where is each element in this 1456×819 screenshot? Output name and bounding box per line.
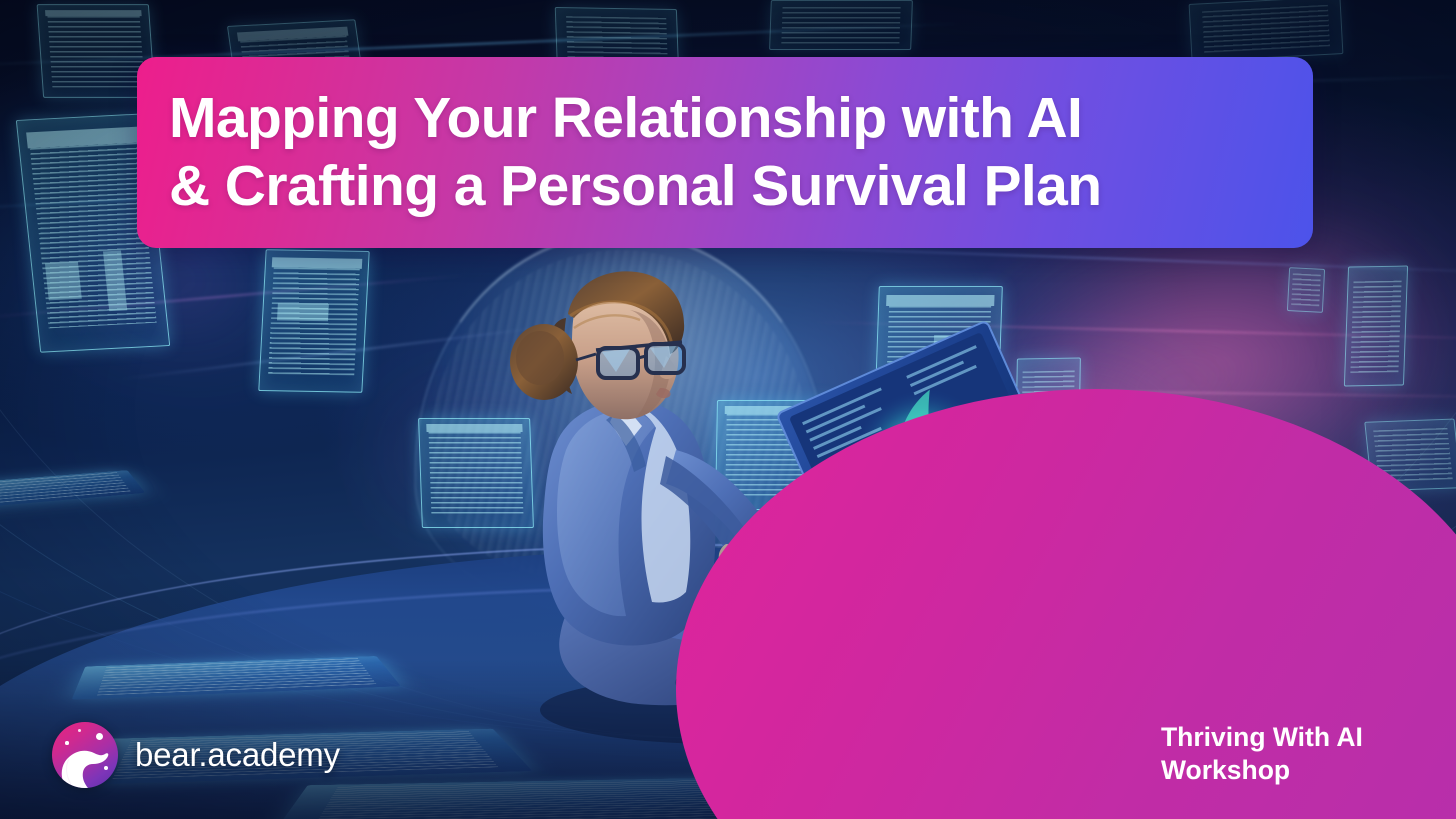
workshop-line-2: Workshop: [1161, 754, 1441, 787]
holo-panel: [258, 249, 369, 393]
title-line-2: & Crafting a Personal Survival Plan: [169, 157, 1283, 216]
holo-panel: [769, 0, 913, 50]
bear-head-icon: [52, 722, 118, 788]
holo-panel: [1287, 267, 1325, 313]
workshop-badge: Thriving With AI Workshop: [1161, 721, 1441, 788]
holo-panel: [1344, 266, 1408, 387]
brand-lockup[interactable]: bear.academy: [52, 722, 340, 788]
promo-slide: Mapping Your Relationship with AI & Craf…: [0, 0, 1456, 819]
workshop-line-1: Thriving With AI: [1161, 721, 1441, 754]
brand-name: bear.academy: [135, 736, 340, 774]
holo-panel: [1189, 0, 1344, 62]
title-banner: Mapping Your Relationship with AI & Craf…: [137, 57, 1313, 248]
title-line-1: Mapping Your Relationship with AI: [169, 89, 1283, 148]
